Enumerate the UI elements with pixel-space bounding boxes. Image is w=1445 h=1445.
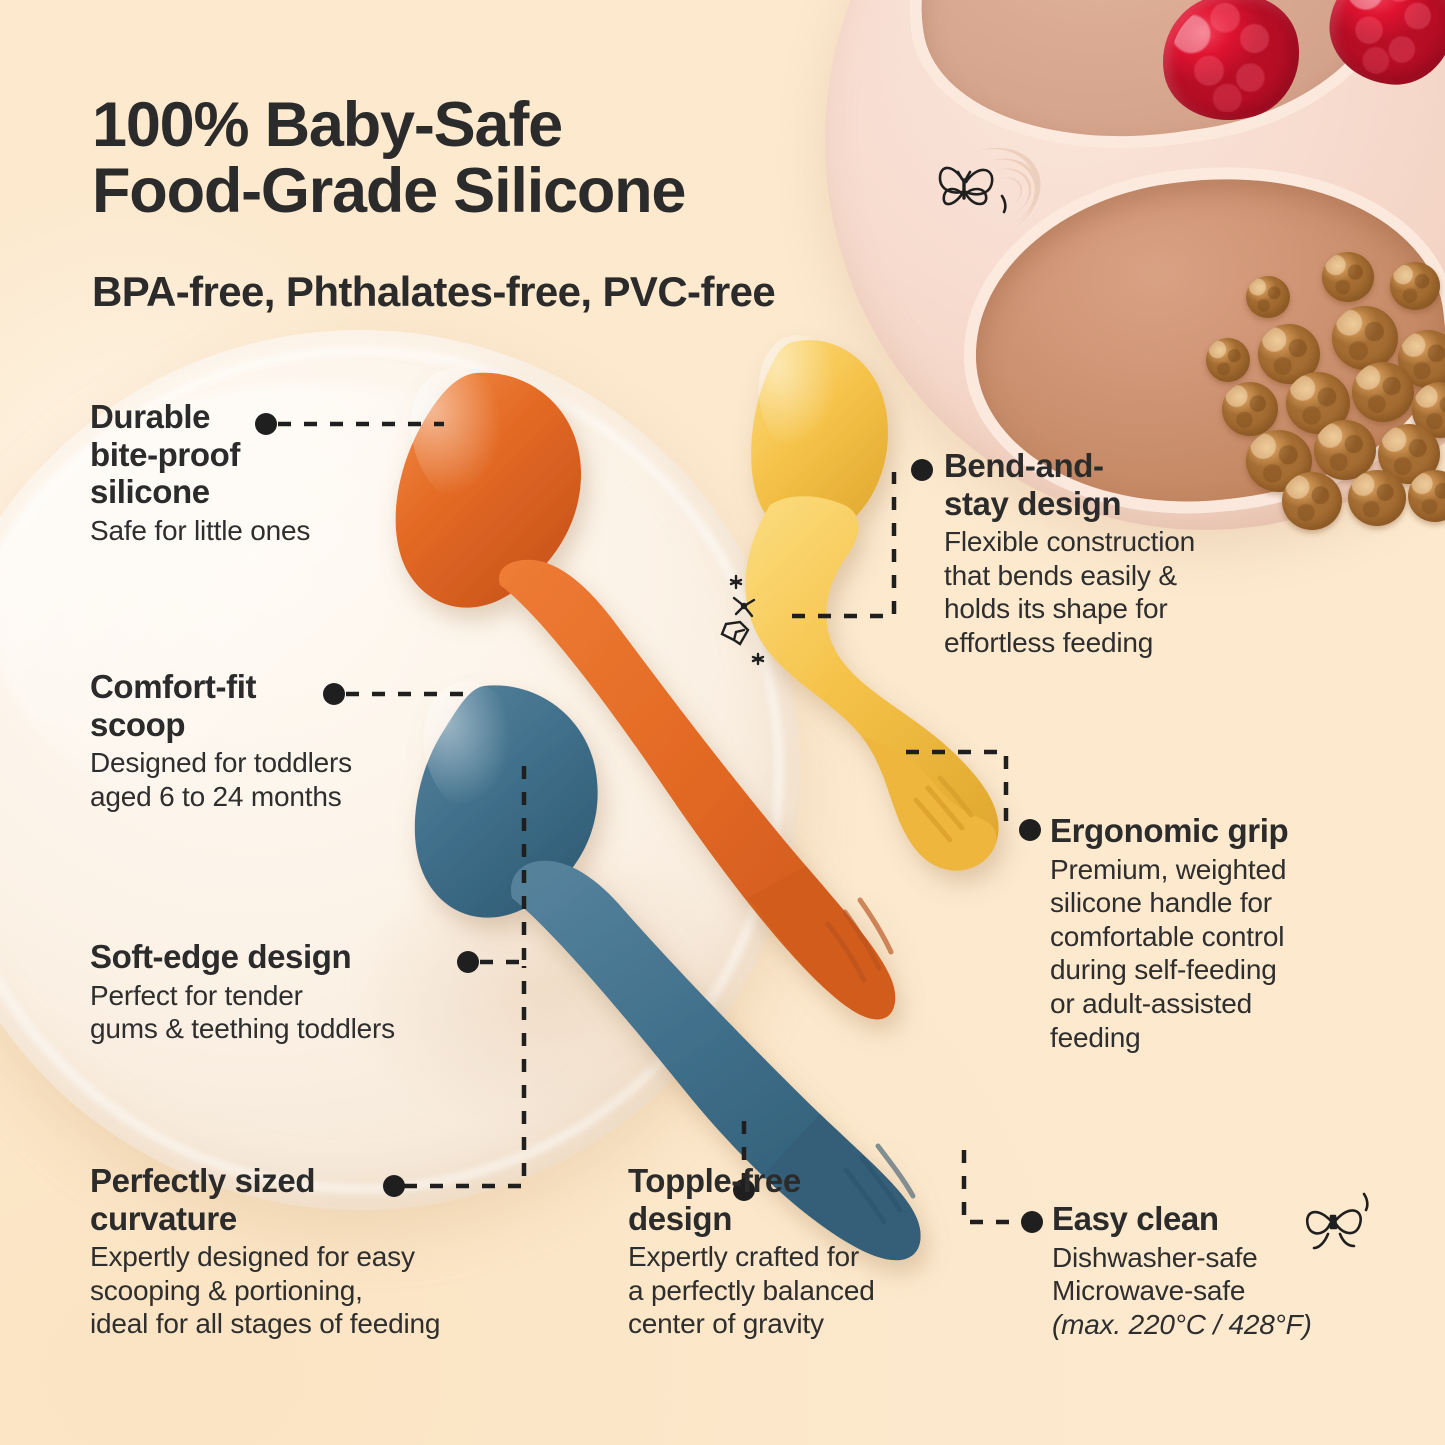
callout-durable-title-line1: Durable: [90, 398, 210, 435]
connector-easy: [964, 1150, 1020, 1222]
callout-easy-clean: Easy clean Dishwasher-safe Microwave-saf…: [1052, 1200, 1382, 1341]
callout-topple-free: Topple-free design Expertly crafted for …: [628, 1162, 958, 1341]
callout-durable-title-line3: silicone: [90, 473, 210, 510]
connector-bend: [792, 472, 894, 616]
headline-line-1: 100% Baby-Safe: [92, 90, 562, 160]
callout-ergonomic-grip-body: Premium, weighted silicone handle for co…: [1050, 853, 1370, 1055]
sparkle-doodle-icon: [700, 556, 796, 668]
page-title: 100% Baby-Safe Food-Grade Silicone: [92, 92, 1022, 224]
callout-durable-title-line2: bite-proof: [90, 436, 240, 473]
callout-topple-free-body: Expertly crafted for a perfectly balance…: [628, 1240, 958, 1341]
callout-soft-edge-body: Perfect for tender gums & teething toddl…: [90, 979, 490, 1046]
callout-comfort-fit-title: Comfort-fit scoop: [90, 668, 450, 743]
callout-durable: Durable bite-proof silicone Safe for lit…: [90, 398, 420, 547]
callout-topple-free-title: Topple-free design: [628, 1162, 958, 1237]
callout-soft-edge: Soft-edge design Perfect for tender gums…: [90, 938, 490, 1046]
callout-easy-clean-title: Easy clean: [1052, 1200, 1382, 1238]
callout-comfort-fit: Comfort-fit scoop Designed for toddlers …: [90, 668, 450, 813]
callout-easy-clean-temp-note: (max. 220°C / 428°F): [1052, 1308, 1382, 1342]
callout-comfort-fit-body: Designed for toddlers aged 6 to 24 month…: [90, 746, 450, 813]
callout-easy-clean-body: Dishwasher-safe Microwave-safe: [1052, 1241, 1382, 1308]
infographic-canvas: 100% Baby-Safe Food-Grade Silicone BPA-f…: [0, 0, 1445, 1445]
callout-ergonomic-grip-title: Ergonomic grip: [1050, 812, 1370, 850]
connector-ergo: [906, 752, 1006, 828]
callout-bend-and-stay-body: Flexible construction that bends easily …: [944, 525, 1274, 659]
callout-perfectly-sized-title: Perfectly sized curvature: [90, 1162, 560, 1237]
connector-dot-easy: [1021, 1211, 1043, 1233]
callout-durable-title: Durable bite-proof silicone: [90, 398, 420, 511]
callout-perfectly-sized: Perfectly sized curvature Expertly desig…: [90, 1162, 560, 1341]
connector-dot-ergo: [1019, 819, 1041, 841]
headline-line-2: Food-Grade Silicone: [92, 158, 1022, 224]
connector-dot-bend: [911, 459, 933, 481]
callout-bend-and-stay-title: Bend-and- stay design: [944, 447, 1274, 522]
callout-bend-and-stay: Bend-and- stay design Flexible construct…: [944, 447, 1274, 660]
callout-durable-body: Safe for little ones: [90, 514, 420, 548]
callout-perfectly-sized-body: Expertly designed for easy scooping & po…: [90, 1240, 560, 1341]
subtitle: BPA-free, Phthalates-free, PVC-free: [92, 268, 1052, 316]
callout-ergonomic-grip: Ergonomic grip Premium, weighted silicon…: [1050, 812, 1370, 1054]
callout-soft-edge-title: Soft-edge design: [90, 938, 490, 976]
